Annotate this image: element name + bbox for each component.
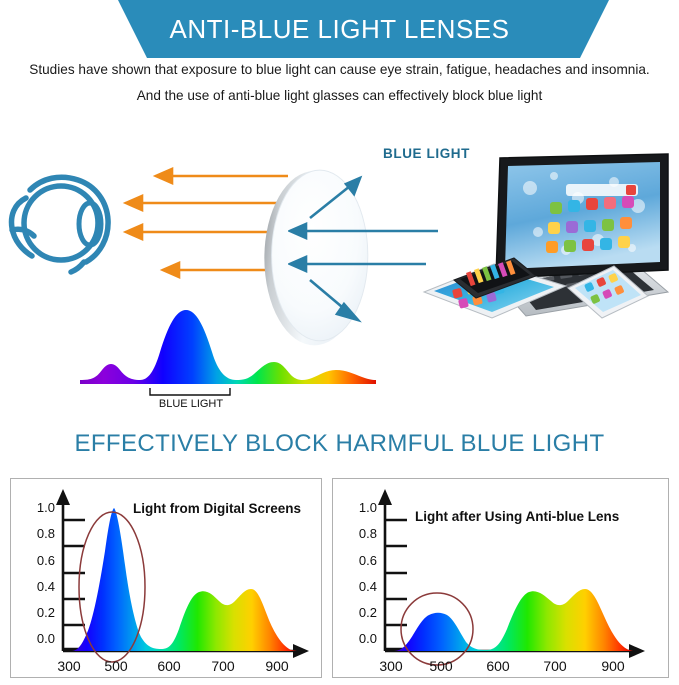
svg-text:0.0: 0.0 [37, 631, 55, 646]
svg-text:0.0: 0.0 [359, 631, 377, 646]
eye-cross-section-icon [8, 168, 118, 278]
svg-text:600: 600 [486, 658, 510, 674]
svg-text:1.0: 1.0 [359, 500, 377, 515]
svg-text:0.6: 0.6 [359, 553, 377, 568]
svg-text:300: 300 [379, 658, 403, 674]
svg-text:900: 900 [601, 658, 625, 674]
blue-light-diagram: BLUE LIGHT [0, 120, 679, 420]
svg-text:900: 900 [265, 658, 289, 674]
svg-text:0.4: 0.4 [37, 579, 55, 594]
svg-text:0.8: 0.8 [37, 526, 55, 541]
chart-left-plot: 1.0 0.8 0.6 0.4 0.2 0.0 300 500 600 700 … [11, 479, 321, 677]
svg-text:0.6: 0.6 [37, 553, 55, 568]
svg-text:700: 700 [211, 658, 235, 674]
svg-text:0.2: 0.2 [37, 605, 55, 620]
intro-line-2: And the use of anti-blue light glasses c… [0, 88, 679, 103]
svg-text:0.2: 0.2 [359, 605, 377, 620]
spectrum-bracket-label: BLUE LIGHT [159, 398, 223, 410]
svg-text:500: 500 [429, 658, 453, 674]
visible-spectrum-curve: BLUE LIGHT [78, 300, 378, 410]
svg-text:500: 500 [104, 658, 128, 674]
chart-right-plot: 1.0 0.8 0.6 0.4 0.2 0.0 300 500 600 700 … [333, 479, 668, 677]
svg-text:600: 600 [157, 658, 181, 674]
chart-light-after-anti-blue-lens: Light after Using Anti-blue Lens [332, 478, 669, 678]
page-title: ANTI-BLUE LIGHT LENSES [0, 0, 679, 58]
svg-text:0.4: 0.4 [359, 579, 377, 594]
svg-text:0.8: 0.8 [359, 526, 377, 541]
infographic-page: ANTI-BLUE LIGHT LENSES Studies have show… [0, 0, 679, 685]
section-heading: EFFECTIVELY BLOCK HARMFUL BLUE LIGHT [0, 430, 679, 458]
digital-devices-icon [418, 140, 674, 320]
svg-text:300: 300 [57, 658, 81, 674]
chart-light-from-digital-screens: Light from Digital Screens [10, 478, 322, 678]
svg-text:700: 700 [543, 658, 567, 674]
svg-text:1.0: 1.0 [37, 500, 55, 515]
intro-line-1: Studies have shown that exposure to blue… [0, 62, 679, 77]
header-banner: ANTI-BLUE LIGHT LENSES [0, 0, 679, 58]
